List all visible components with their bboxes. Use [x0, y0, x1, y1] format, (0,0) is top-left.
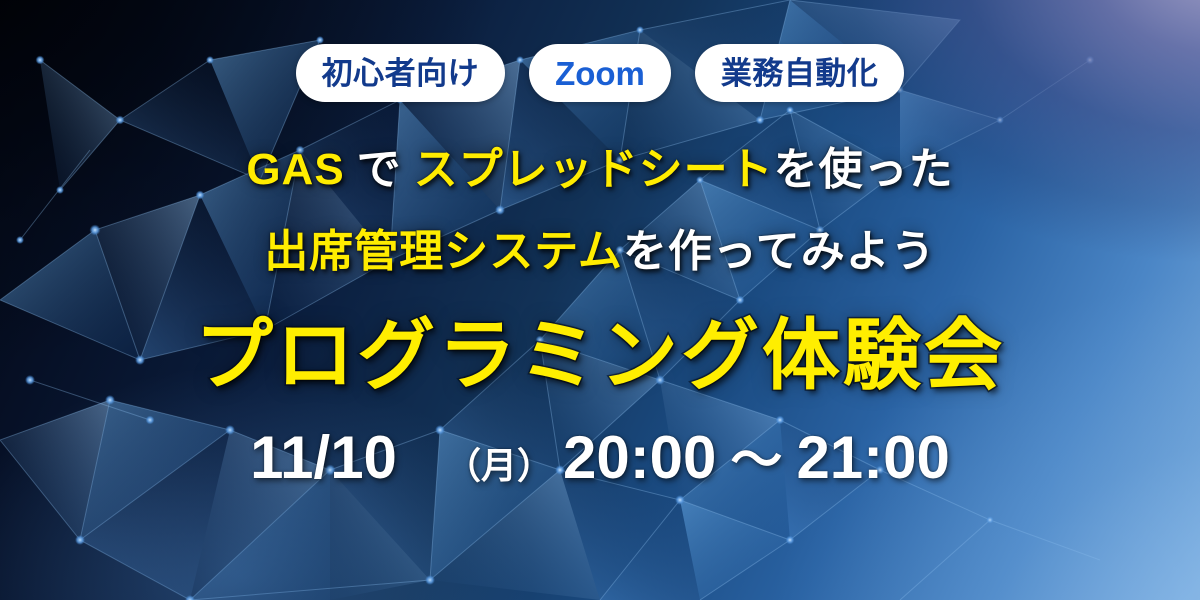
badge-zoom[interactable]: Zoom [529, 44, 671, 102]
event-start-time: 20:00 [563, 428, 716, 488]
subtitle-line1-part4: を使った [774, 145, 954, 194]
subtitle-line-2: 出席管理システムを作ってみよう [246, 230, 953, 274]
subtitle-line1-part1: GAS [246, 145, 344, 194]
event-dayofweek: （月） [445, 448, 553, 484]
banner-content: 初心者向け Zoom 業務自動化 GASでスプレッドシートを使った 出席管理シス… [0, 0, 1200, 600]
subtitle-line2-part1: 出席管理システム [264, 227, 623, 276]
event-datetime: 11/10 （月） 20:00 ～ 21:00 [250, 428, 950, 488]
subtitle-line1-part3: スプレッドシート [414, 145, 774, 194]
event-date: 11/10 [250, 428, 397, 488]
event-end-time: 21:00 [796, 428, 949, 488]
time-separator: ～ [716, 435, 796, 487]
subtitle-line1-part2: で [357, 145, 402, 194]
badge-beginner-label: 初心者向け [322, 58, 480, 89]
subtitle-line2-part2: を作ってみよう [623, 227, 936, 276]
badge-beginner[interactable]: 初心者向け [296, 44, 506, 102]
badge-automation-label: 業務自動化 [721, 58, 879, 89]
badge-automation[interactable]: 業務自動化 [695, 44, 905, 102]
badge-row: 初心者向け Zoom 業務自動化 [296, 44, 905, 102]
headline-title: プログラミング体験会 [195, 316, 1005, 394]
subtitle-block: GASでスプレッドシートを使った 出席管理システムを作ってみよう [246, 148, 953, 274]
subtitle-line-1: GASでスプレッドシートを使った [246, 148, 953, 192]
event-banner: 初心者向け Zoom 業務自動化 GASでスプレッドシートを使った 出席管理シス… [0, 0, 1200, 600]
badge-zoom-label: Zoom [555, 57, 645, 90]
